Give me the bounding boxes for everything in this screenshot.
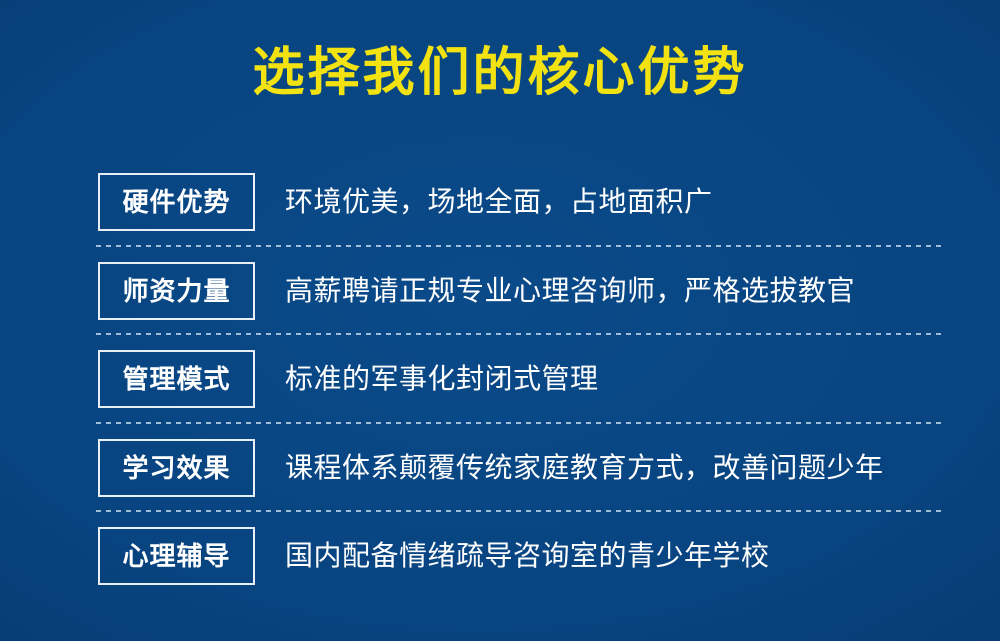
- advantage-tag-label: 管理模式: [122, 366, 230, 392]
- list-item-content: 心理辅导 国内配备情绪疏导咨询室的青少年学校: [98, 527, 770, 585]
- advantage-tag-label: 心理辅导: [122, 543, 230, 569]
- list-item: 学习效果 课程体系颠覆传统家庭教育方式，改善问题少年: [0, 424, 1000, 513]
- advantage-description: 高薪聘请正规专业心理咨询师，严格选拔教官: [285, 275, 855, 307]
- slide-canvas: 选择我们的核心优势 硬件优势 环境优美，场地全面，占地面积广 师资力量 高薪聘请…: [0, 0, 1000, 641]
- list-item: 心理辅导 国内配备情绪疏导咨询室的青少年学校: [0, 512, 1000, 601]
- advantage-description: 课程体系颠覆传统家庭教育方式，改善问题少年: [285, 452, 884, 484]
- advantage-tag-box: 心理辅导: [98, 527, 255, 585]
- advantage-tag-box: 学习效果: [98, 439, 255, 497]
- advantage-description: 国内配备情绪疏导咨询室的青少年学校: [285, 540, 770, 572]
- advantage-list: 硬件优势 环境优美，场地全面，占地面积广 师资力量 高薪聘请正规专业心理咨询师，…: [0, 158, 1000, 601]
- advantage-tag-label: 师资力量: [122, 278, 230, 304]
- list-item: 师资力量 高薪聘请正规专业心理咨询师，严格选拔教官: [0, 247, 1000, 336]
- list-item: 管理模式 标准的军事化封闭式管理: [0, 335, 1000, 424]
- list-item-content: 学习效果 课程体系颠覆传统家庭教育方式，改善问题少年: [98, 439, 884, 497]
- advantage-tag-label: 学习效果: [122, 455, 230, 481]
- advantage-tag-label: 硬件优势: [122, 189, 230, 215]
- page-title: 选择我们的核心优势: [252, 42, 747, 104]
- advantage-tag-box: 管理模式: [98, 350, 255, 408]
- list-item: 硬件优势 环境优美，场地全面，占地面积广: [0, 158, 1000, 247]
- advantage-description: 标准的军事化封闭式管理: [285, 363, 599, 395]
- list-item-content: 硬件优势 环境优美，场地全面，占地面积广: [98, 173, 713, 231]
- advantage-tag-box: 硬件优势: [98, 173, 255, 231]
- title-area: 选择我们的核心优势: [0, 42, 1000, 104]
- advantage-description: 环境优美，场地全面，占地面积广: [285, 186, 713, 218]
- advantage-tag-box: 师资力量: [98, 262, 255, 320]
- list-item-content: 管理模式 标准的军事化封闭式管理: [98, 350, 599, 408]
- list-item-content: 师资力量 高薪聘请正规专业心理咨询师，严格选拔教官: [98, 262, 855, 320]
